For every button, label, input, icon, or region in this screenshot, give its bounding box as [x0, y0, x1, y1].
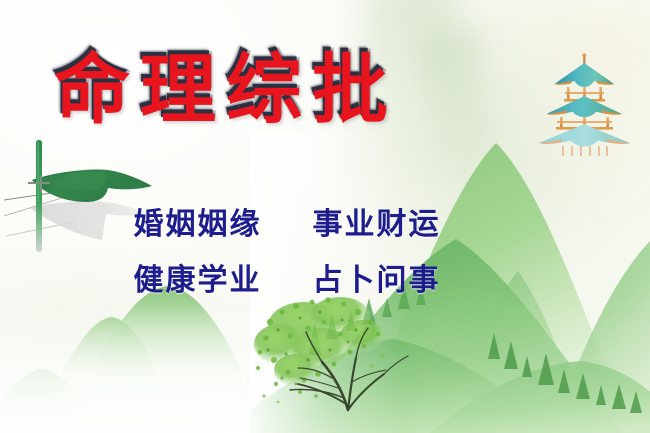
subtitle-2-left: 健康学业 [134, 263, 262, 298]
subtitle-line-1: 婚姻姻缘 事业财运 [0, 210, 612, 240]
page-title: 命理综批 [0, 52, 452, 128]
poster-canvas: 命理综批 婚姻姻缘 事业财运 健康学业 占卜问事 [0, 0, 650, 433]
subtitle-2-right: 占卜问事 [312, 263, 440, 298]
subtitle-1-right: 事业财运 [312, 207, 440, 242]
subtitle-line-2: 健康学业 占卜问事 [0, 266, 612, 296]
leafy-tree-icon [252, 292, 420, 433]
chinese-pagoda-icon [536, 52, 634, 156]
subtitle-1-left: 婚姻姻缘 [134, 207, 262, 242]
